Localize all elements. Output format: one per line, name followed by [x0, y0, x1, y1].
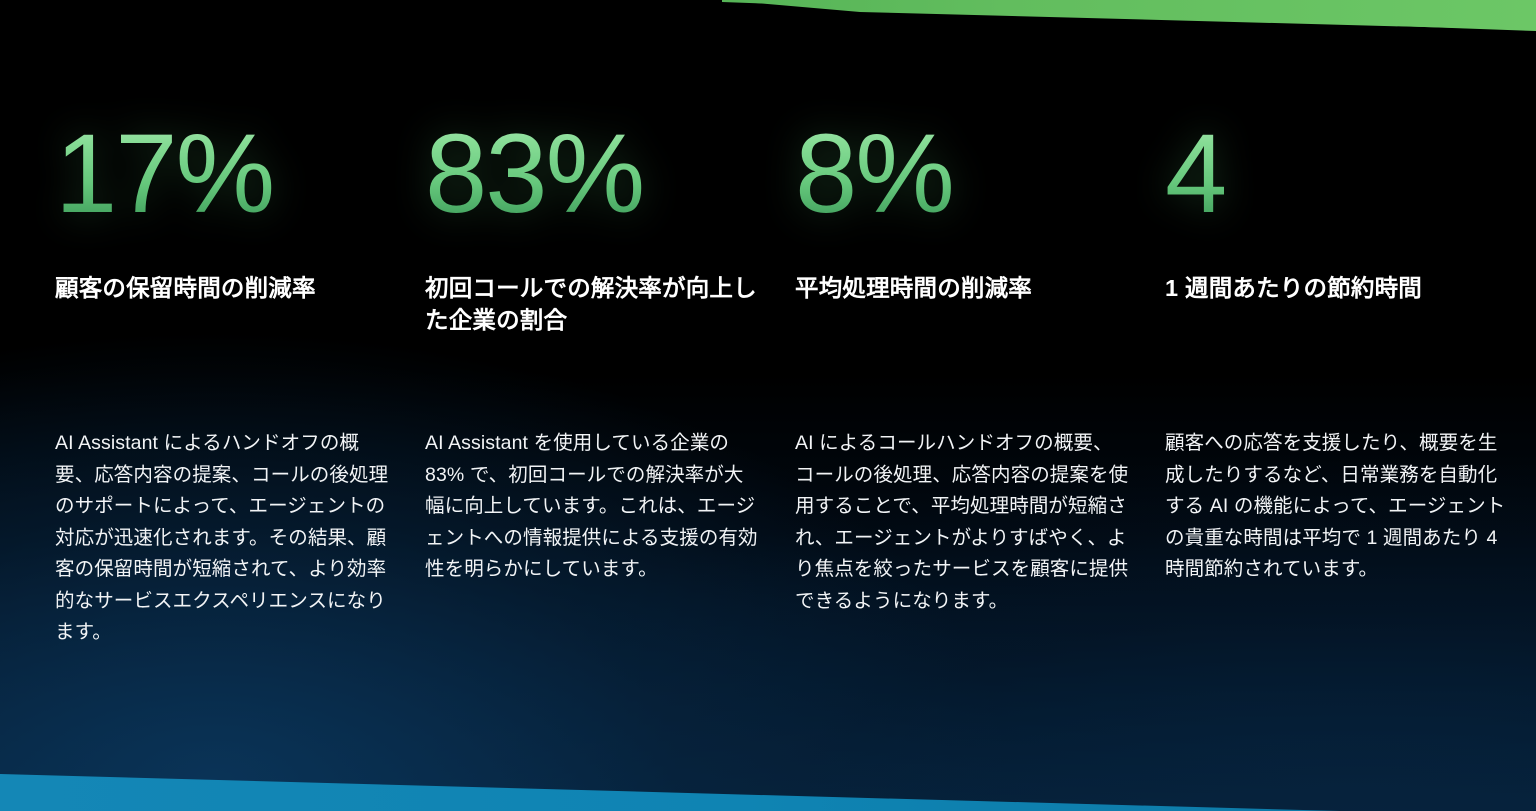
stat-heading-2: 初回コールでの解決率が向上した企業の割合: [425, 272, 763, 337]
stats-slide: 17% 顧客の保留時間の削減率 AI Assistant によるハンドオフの概要…: [0, 0, 1536, 811]
stat-body-1: AI Assistant によるハンドオフの概要、応答内容の提案、コールの後処理…: [55, 428, 391, 649]
stat-card-3: 8% 平均処理時間の削減率 AI によるコールハンドオフの概要、コールの後処理、…: [795, 0, 1165, 811]
stat-card-1: 17% 顧客の保留時間の削減率 AI Assistant によるハンドオフの概要…: [55, 0, 425, 811]
stat-figure-4: 4: [1165, 118, 1225, 230]
stat-body-3: AI によるコールハンドオフの概要、コールの後処理、応答内容の提案を使用すること…: [795, 428, 1131, 617]
stat-figure-2: 83%: [425, 118, 643, 230]
stat-card-4: 4 1 週間あたりの節約時間 顧客への応答を支援したり、概要を生成したりするなど…: [1165, 0, 1536, 811]
stat-heading-1: 顧客の保留時間の削減率: [55, 272, 393, 304]
stat-figure-3: 8%: [795, 118, 953, 230]
stats-grid: 17% 顧客の保留時間の削減率 AI Assistant によるハンドオフの概要…: [0, 0, 1536, 811]
stat-heading-3: 平均処理時間の削減率: [795, 272, 1133, 304]
stat-body-2: AI Assistant を使用している企業の 83% で、初回コールでの解決率…: [425, 428, 761, 586]
stat-card-2: 83% 初回コールでの解決率が向上した企業の割合 AI Assistant を使…: [425, 0, 795, 811]
stat-heading-4: 1 週間あたりの節約時間: [1165, 272, 1509, 304]
stat-figure-1: 17%: [55, 118, 273, 230]
stat-body-4: 顧客への応答を支援したり、概要を生成したりするなど、日常業務を自動化する AI …: [1165, 428, 1507, 586]
